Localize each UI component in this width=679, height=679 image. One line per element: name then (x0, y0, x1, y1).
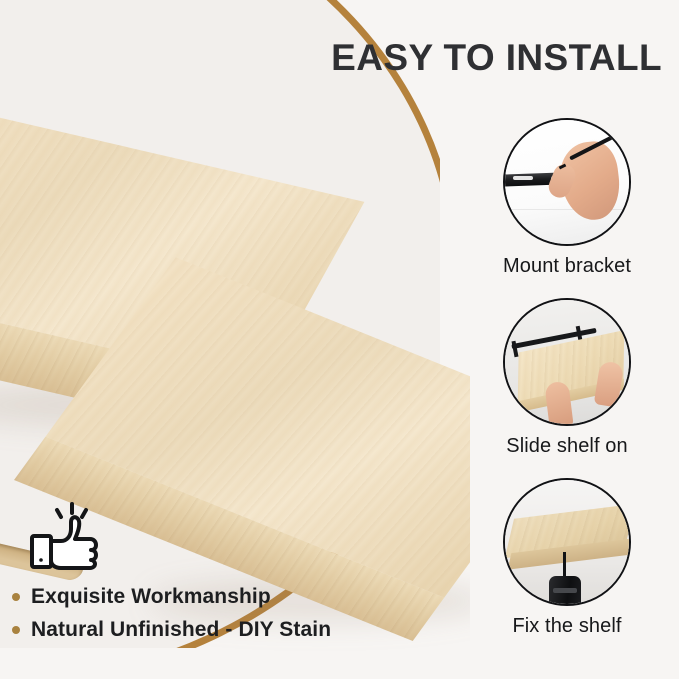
bracket-slot (513, 176, 533, 180)
power-drill-collar (553, 588, 577, 593)
list-item: Natural Unfinished - DIY Stain (12, 618, 432, 642)
hands-sliding-shelf-onto-bracket-photo (503, 298, 631, 426)
install-step-2-label: Slide shelf on (455, 435, 679, 458)
screwdriver-bit (563, 552, 566, 578)
install-step-3-label: Fix the shelf (455, 615, 679, 638)
product-photo-stage (0, 0, 470, 679)
page-title: EASY TO INSTALL (292, 36, 662, 80)
bullet-dot-icon (12, 593, 20, 601)
install-step-3: Fix the shelf (455, 478, 679, 638)
feature-bullet-list: Exquisite Workmanship Natural Unfinished… (12, 585, 432, 651)
install-step-2: Slide shelf on (455, 298, 679, 458)
bullet-dot-icon (12, 626, 20, 634)
install-step-1-label: Mount bracket (455, 255, 679, 278)
drill-fixing-shelf-underside-photo (503, 478, 631, 606)
feature-bullet-label: Exquisite Workmanship (31, 585, 271, 609)
install-step-1: Mount bracket (455, 118, 679, 278)
infographic-canvas: EASY TO INSTALL Mount bracket Slide (0, 0, 679, 679)
thumbs-up-icon (28, 500, 102, 572)
feature-bullet-label: Natural Unfinished - DIY Stain (31, 618, 331, 642)
hand-marking-bracket-on-wall-photo (503, 118, 631, 246)
list-item: Exquisite Workmanship (12, 585, 432, 609)
